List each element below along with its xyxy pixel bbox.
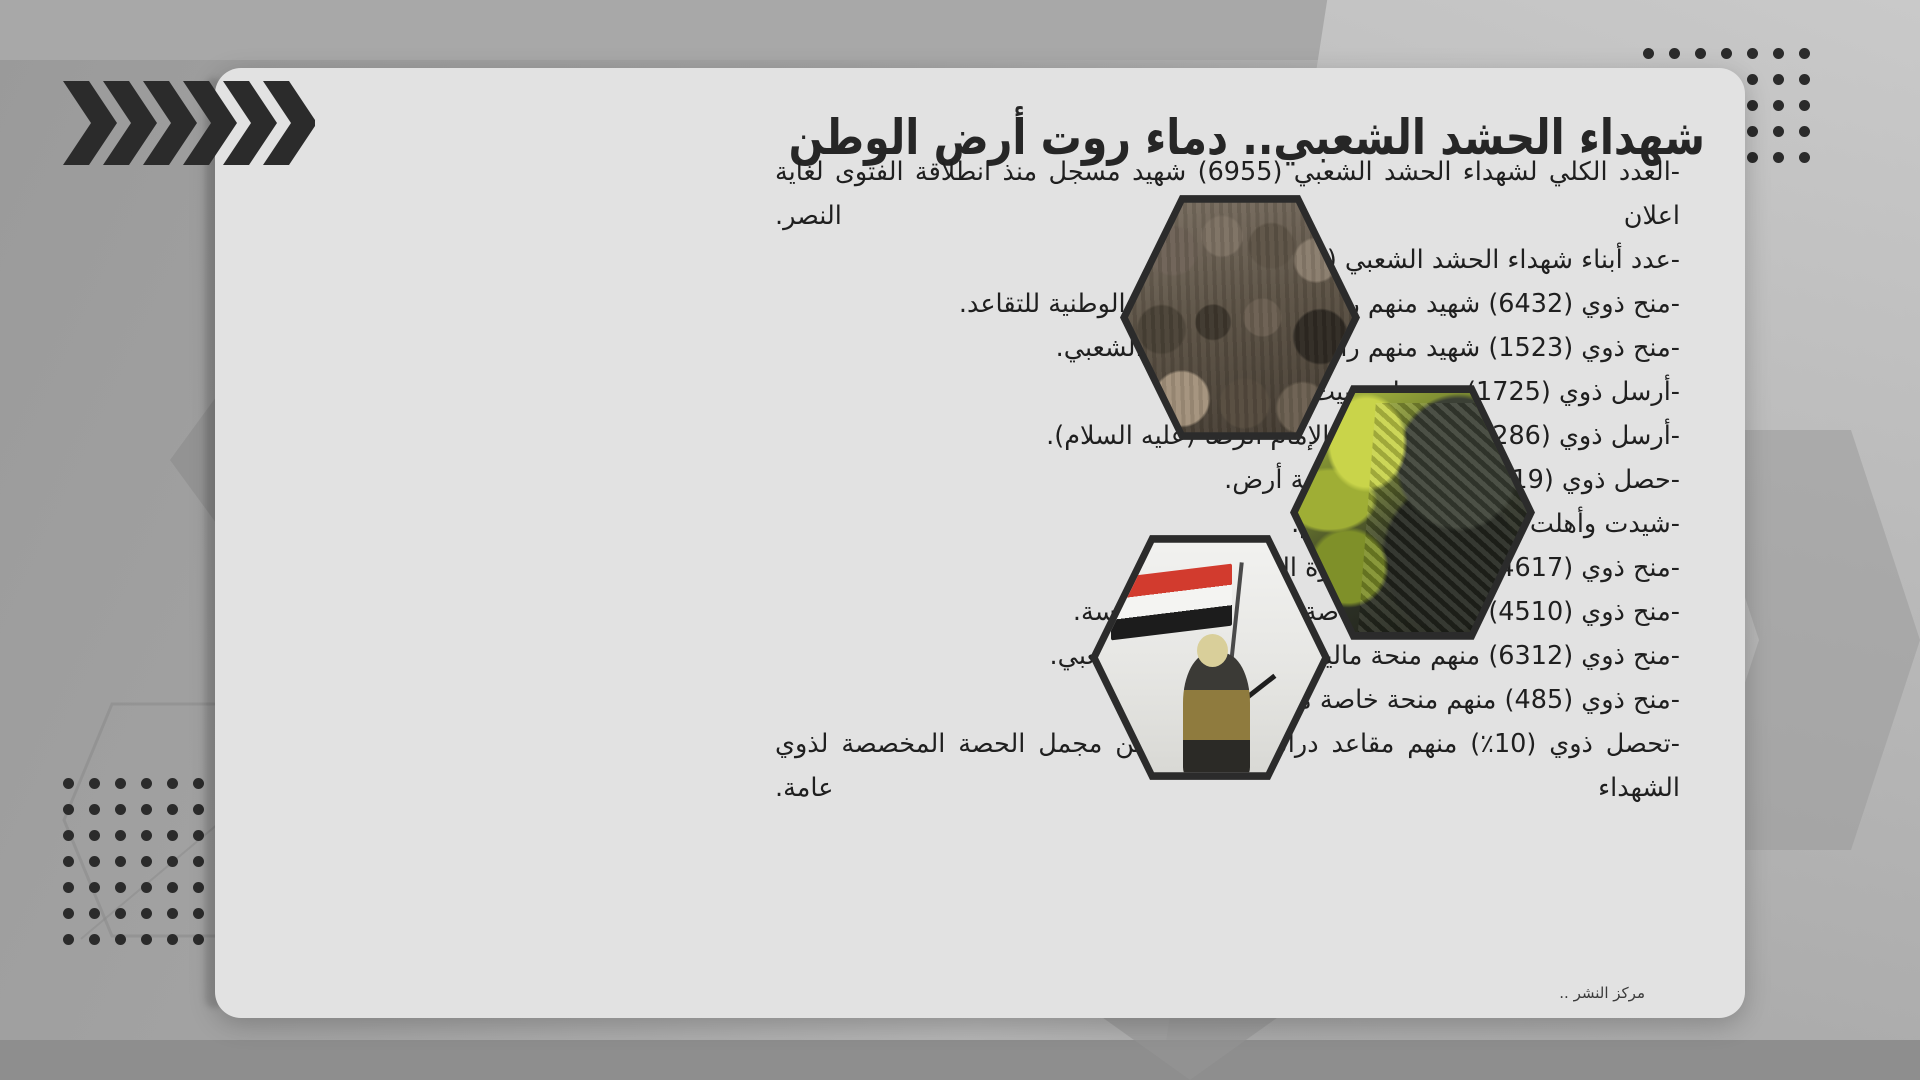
fighter-head <box>1197 634 1228 667</box>
photo-flag-frame <box>1098 538 1322 777</box>
decor-dot <box>193 908 204 919</box>
decor-dot <box>193 830 204 841</box>
decor-dot <box>1773 100 1784 111</box>
decor-dot <box>1747 100 1758 111</box>
decor-dot <box>115 882 126 893</box>
decor-dot <box>1773 152 1784 163</box>
decor-dot <box>1799 74 1810 85</box>
chevron-right-icon <box>55 77 315 169</box>
decor-dot <box>141 908 152 919</box>
photo-flag-image <box>1098 538 1322 777</box>
decor-dot <box>167 908 178 919</box>
decor-dot <box>1747 152 1758 163</box>
decor-dot <box>1799 48 1810 59</box>
decor-dot <box>167 830 178 841</box>
poster-canvas: شهداء الحشد الشعبي.. دماء روت أرض الوطن … <box>0 0 1920 1080</box>
decor-dot <box>193 856 204 867</box>
decor-dot <box>1799 126 1810 137</box>
decor-dot <box>89 778 100 789</box>
chevron-arrow-group <box>55 78 315 168</box>
decor-dot <box>115 804 126 815</box>
decor-dot <box>1747 74 1758 85</box>
decor-dot <box>167 778 178 789</box>
decor-dot <box>141 856 152 867</box>
decor-dot <box>89 804 100 815</box>
decor-dot <box>1695 48 1706 59</box>
decor-dot <box>1799 100 1810 111</box>
decor-dot <box>193 778 204 789</box>
decor-dot <box>167 882 178 893</box>
decor-dot <box>193 882 204 893</box>
decor-dot <box>89 882 100 893</box>
decor-dot <box>1747 126 1758 137</box>
decor-dot <box>193 804 204 815</box>
decor-dot <box>141 934 152 945</box>
decor-dot <box>1721 48 1732 59</box>
decor-dot <box>1773 48 1784 59</box>
decor-dot <box>1669 48 1680 59</box>
background-bottom-strip <box>0 1040 1920 1080</box>
decor-dot <box>115 934 126 945</box>
decor-dot <box>115 856 126 867</box>
decor-dot <box>89 830 100 841</box>
decor-dot <box>115 908 126 919</box>
decor-dot <box>167 856 178 867</box>
decor-dot <box>63 908 74 919</box>
decor-dot <box>1799 152 1810 163</box>
decor-dot <box>141 778 152 789</box>
photo-fighter-frame <box>1298 388 1527 637</box>
decor-dot <box>193 934 204 945</box>
photo-crowd-frame <box>1128 198 1352 437</box>
decor-dot <box>115 778 126 789</box>
photo-crowd-image <box>1128 198 1352 437</box>
decor-dot <box>141 804 152 815</box>
photo-fighter-image <box>1298 388 1527 637</box>
decor-dot <box>167 804 178 815</box>
decor-dot <box>63 804 74 815</box>
decor-dot <box>89 934 100 945</box>
decor-dot <box>167 934 178 945</box>
decor-dot <box>1747 48 1758 59</box>
decor-dot <box>63 856 74 867</box>
body-line-land-plots: -حصل ذوي (4519) منهم على قطعة أرض. <box>775 458 1680 502</box>
decor-dot <box>141 882 152 893</box>
decor-dot <box>63 830 74 841</box>
decor-dot <box>1773 126 1784 137</box>
decor-dot <box>115 830 126 841</box>
decor-dot <box>89 908 100 919</box>
decor-dot <box>63 882 74 893</box>
decor-dot <box>63 934 74 945</box>
decor-dot <box>63 778 74 789</box>
decor-dot <box>89 856 100 867</box>
decor-dot <box>141 830 152 841</box>
decor-dot <box>1643 48 1654 59</box>
decor-dot <box>1773 74 1784 85</box>
fighter-silhouette <box>1183 653 1250 777</box>
footer-note: مركز النشر .. <box>1559 984 1645 1002</box>
dot-grid-bottom-left <box>48 778 204 960</box>
